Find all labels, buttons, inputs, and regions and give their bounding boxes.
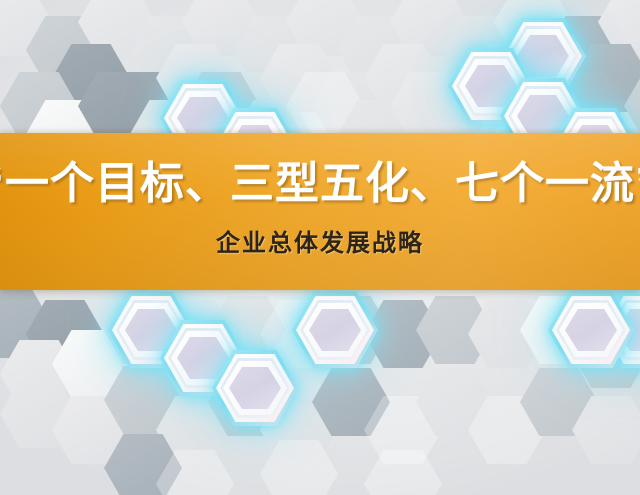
glowing-hexagon xyxy=(292,292,378,368)
title-banner: “一个目标、三型五化、七个一流” 企业总体发展战略 xyxy=(0,133,640,290)
glowing-hexagon xyxy=(548,292,634,368)
hexagon-tile xyxy=(364,450,442,495)
glowing-hexagon xyxy=(212,350,298,426)
page-subtitle: 企业总体发展战略 xyxy=(216,232,424,256)
title-slide: “一个目标、三型五化、七个一流” 企业总体发展战略 xyxy=(0,0,640,495)
page-title: “一个目标、三型五化、七个一流” xyxy=(0,162,640,206)
